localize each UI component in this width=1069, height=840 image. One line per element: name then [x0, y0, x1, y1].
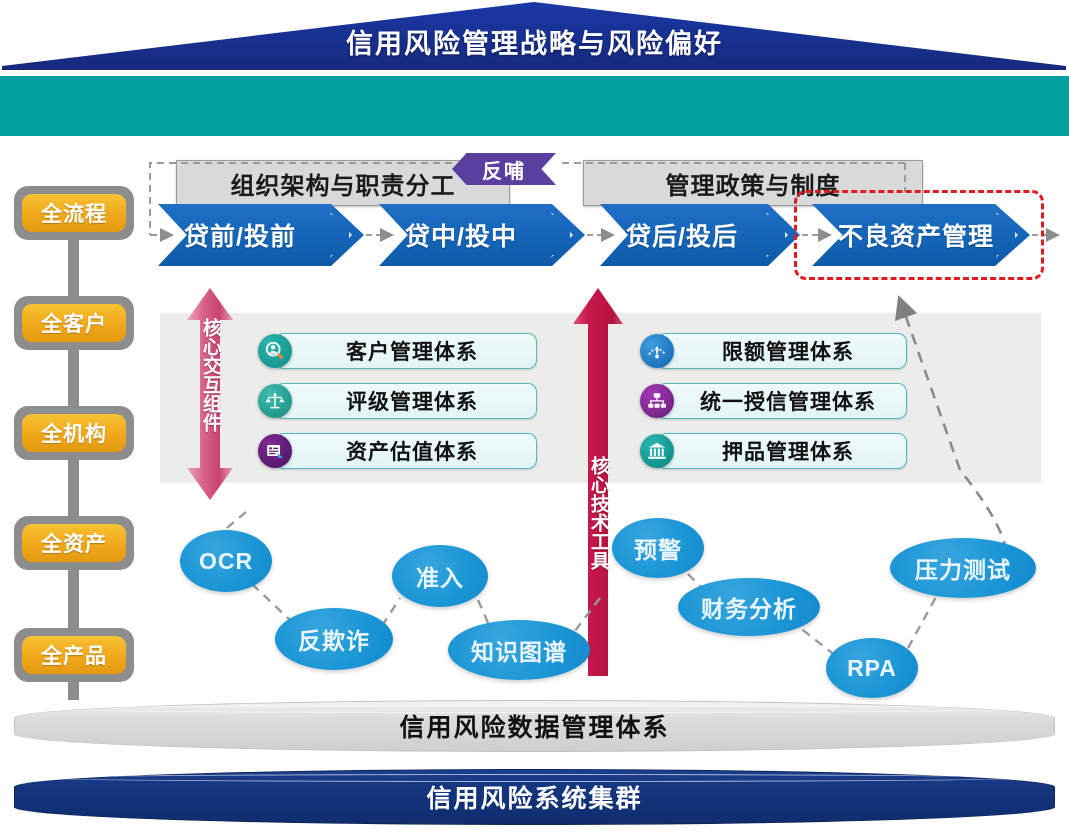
- component-label: 资产估值体系: [275, 433, 537, 469]
- tech-tool-ocr[interactable]: OCR: [180, 530, 272, 592]
- tech-tool-admission[interactable]: 准入: [392, 545, 488, 607]
- system-cluster-layer[interactable]: 信用风险系统集群: [14, 769, 1055, 825]
- dimension-pill-product[interactable]: 全产品: [14, 628, 134, 682]
- tech-tool-knowledge-graph[interactable]: 知识图谱: [448, 620, 590, 680]
- org-network-icon: [640, 384, 674, 418]
- dimension-pill-institution[interactable]: 全机构: [14, 406, 134, 460]
- dimension-label: 全产品: [22, 636, 126, 674]
- process-step-during-loan[interactable]: 贷中/投中: [379, 204, 585, 266]
- component-label: 统一授信管理体系: [657, 383, 907, 419]
- core-tech-arrow: 核心技术工具: [572, 288, 624, 676]
- system-cluster-label: 信用风险系统集群: [14, 769, 1055, 825]
- component-row-valuation[interactable]: 资产估值体系: [258, 431, 537, 471]
- governance-band: 组织架构与职责分工 管理政策与制度: [0, 76, 1069, 136]
- tech-tool-antifraud[interactable]: 反欺诈: [275, 608, 393, 670]
- feedback-banner-label: 反哺: [452, 153, 556, 185]
- process-step-label: 贷后/投后: [626, 217, 738, 253]
- process-step-pre-loan[interactable]: 贷前/投前: [158, 204, 364, 266]
- process-step-post-loan[interactable]: 贷后/投后: [600, 204, 800, 266]
- chevron-right-icon: [330, 212, 352, 258]
- process-step-label: 贷前/投前: [184, 217, 296, 253]
- tech-tool-label: RPA: [847, 655, 897, 682]
- dimension-pill-asset[interactable]: 全资产: [14, 516, 134, 570]
- component-label: 评级管理体系: [275, 383, 537, 419]
- tech-tool-financial-analysis[interactable]: 财务分析: [678, 578, 820, 636]
- component-label: 客户管理体系: [275, 333, 537, 369]
- process-step-label: 贷中/投中: [405, 217, 517, 253]
- npl-highlight-box: [794, 190, 1044, 280]
- customer-search-icon: [258, 334, 292, 368]
- core-tech-arrow-label: 核心技术工具: [588, 456, 608, 570]
- tech-tool-label: 准入: [416, 559, 464, 593]
- component-row-unified-credit[interactable]: 统一授信管理体系: [640, 381, 907, 421]
- component-row-customer[interactable]: 客户管理体系: [258, 331, 537, 371]
- bank-building-icon: [640, 434, 674, 468]
- tech-tool-stress-test[interactable]: 压力测试: [890, 538, 1036, 598]
- document-valuation-icon: [258, 434, 292, 468]
- chevron-right-icon: [766, 212, 788, 258]
- dimension-pill-customer[interactable]: 全客户: [14, 296, 134, 350]
- component-label: 押品管理体系: [657, 433, 907, 469]
- roof-title: 信用风险管理战略与风险偏好: [0, 22, 1069, 61]
- component-row-limit[interactable]: 限额管理体系: [640, 331, 907, 371]
- tech-tool-rpa[interactable]: RPA: [826, 638, 918, 698]
- data-platform-label: 信用风险数据管理体系: [14, 700, 1055, 752]
- dimension-label: 全流程: [22, 194, 126, 232]
- core-components-arrow: 核心交互组件: [186, 288, 234, 500]
- chevron-right-icon: [551, 212, 573, 258]
- dimension-pill-process[interactable]: 全流程: [14, 186, 134, 240]
- tech-tool-label: 知识图谱: [471, 633, 567, 667]
- gauge-icon: [640, 334, 674, 368]
- tech-tool-label: 预警: [634, 531, 682, 565]
- dimension-label: 全机构: [22, 414, 126, 452]
- balance-scale-icon: [258, 384, 292, 418]
- component-row-rating[interactable]: 评级管理体系: [258, 381, 537, 421]
- dimension-label: 全客户: [22, 304, 126, 342]
- component-row-collateral[interactable]: 押品管理体系: [640, 431, 907, 471]
- tech-tool-early-warning[interactable]: 预警: [612, 518, 704, 578]
- tech-tool-label: OCR: [199, 548, 253, 575]
- roof-banner: 信用风险管理战略与风险偏好: [0, 0, 1069, 72]
- core-components-arrow-label: 核心交互组件: [200, 318, 220, 432]
- feedback-banner[interactable]: 反哺: [452, 153, 556, 185]
- component-label: 限额管理体系: [657, 333, 907, 369]
- data-platform-layer[interactable]: 信用风险数据管理体系: [14, 700, 1055, 752]
- tech-tool-label: 反欺诈: [298, 622, 370, 656]
- tech-tool-label: 财务分析: [701, 590, 797, 624]
- tech-tool-label: 压力测试: [915, 551, 1011, 585]
- dimension-label: 全资产: [22, 524, 126, 562]
